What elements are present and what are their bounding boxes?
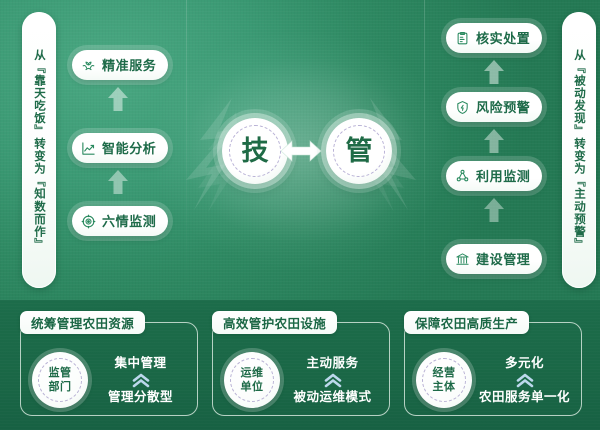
side-banner-left: 从『靠天吃饭』转变为『知数而作』 xyxy=(22,12,56,288)
bottom-card-circle-line2: 部门 xyxy=(49,381,72,393)
bottom-card-body: 运维 单位 主动服务 被动运维模式 xyxy=(213,343,391,417)
bottom-card-transition: 集中管理 管理分散型 xyxy=(88,356,199,405)
bottom-card-circle-line1: 监管 xyxy=(49,367,72,379)
arrow-up-icon xyxy=(483,128,505,154)
bottom-card-circle: 监管 部门 xyxy=(32,352,88,408)
arrow-up-icon xyxy=(107,169,129,195)
bottom-card-title: 统筹管理农田资源 xyxy=(20,311,145,334)
vertical-divider-right xyxy=(424,0,425,300)
bottom-card-circle: 运维 单位 xyxy=(224,352,280,408)
side-banner-right: 从『被动发现』转变为『主动预警』 xyxy=(562,12,596,288)
bottom-card-1: 统筹管理农田资源 监管 部门 集中管理 管理分散型 xyxy=(20,322,198,416)
pill-label: 风险预警 xyxy=(476,101,530,114)
bottom-card-dashed-ring: 运维 单位 xyxy=(230,358,274,402)
core-dashed-ring: 技 xyxy=(229,125,281,177)
bottom-card-dashed-ring: 监管 部门 xyxy=(38,358,82,402)
shield-alert-icon xyxy=(455,100,470,115)
bottom-card-circle: 经营 主体 xyxy=(416,352,472,408)
pill-construction-management[interactable]: 建设管理 xyxy=(446,244,542,274)
pill-precision-service[interactable]: 精准服务 xyxy=(72,50,168,80)
bottom-card-dashed-ring: 经营 主体 xyxy=(422,358,466,402)
side-banner-right-text: 从『被动发现』转变为『主动预警』 xyxy=(573,49,585,251)
pill-label: 六情监测 xyxy=(102,215,156,228)
bottom-card-title: 保障农田高质生产 xyxy=(404,311,529,334)
bottom-card-from-state: 被动运维模式 xyxy=(293,390,371,405)
bottom-card-circle-line2: 主体 xyxy=(433,381,456,393)
hands-plant-icon xyxy=(81,58,96,73)
double-chevron-up-icon xyxy=(131,373,151,388)
bidirectional-arrow-icon xyxy=(279,137,323,165)
bottom-card-circle-line2: 单位 xyxy=(241,381,264,393)
pill-smart-analysis[interactable]: 智能分析 xyxy=(72,133,168,163)
pill-risk-alert[interactable]: 风险预警 xyxy=(446,92,542,122)
bottom-card-to-state: 主动服务 xyxy=(306,356,358,371)
bottom-card-3: 保障农田高质生产 经营 主体 多元化 农田服务单一化 xyxy=(404,322,582,416)
bottom-card-2: 高效管护农田设施 运维 单位 主动服务 被动运维模式 xyxy=(212,322,390,416)
bottom-card-title: 高效管护农田设施 xyxy=(212,311,337,334)
pill-label: 核实处置 xyxy=(476,32,530,45)
pill-label: 精准服务 xyxy=(102,59,156,72)
double-chevron-up-icon xyxy=(323,373,343,388)
bottom-card-transition: 多元化 农田服务单一化 xyxy=(472,356,583,405)
pill-six-condition-monitoring[interactable]: 六情监测 xyxy=(72,206,168,236)
infographic-canvas: 从『靠天吃饭』转变为『知数而作』 从『被动发现』转变为『主动预警』 精准服务 xyxy=(0,0,600,430)
bank-building-icon xyxy=(455,252,470,267)
bottom-card-from-state: 管理分散型 xyxy=(108,390,173,405)
pill-utilization-monitoring[interactable]: 利用监测 xyxy=(446,161,542,191)
radar-target-icon xyxy=(81,214,96,229)
arrow-up-icon xyxy=(107,86,129,112)
pill-label: 建设管理 xyxy=(476,253,530,266)
core-character: 技 xyxy=(242,138,269,165)
line-chart-icon xyxy=(81,141,96,156)
bottom-card-to-state: 集中管理 xyxy=(114,356,166,371)
arrow-up-icon xyxy=(483,197,505,223)
pill-label: 利用监测 xyxy=(476,170,530,183)
side-banner-left-text: 从『靠天吃饭』转变为『知数而作』 xyxy=(33,49,45,251)
recycle-network-icon xyxy=(455,169,470,184)
arrow-up-icon xyxy=(483,59,505,85)
bottom-card-transition: 主动服务 被动运维模式 xyxy=(280,356,391,405)
bottom-card-from-state: 农田服务单一化 xyxy=(479,390,570,405)
pill-label: 智能分析 xyxy=(102,142,156,155)
bottom-card-circle-line1: 经营 xyxy=(433,367,456,379)
core-dashed-ring: 管 xyxy=(333,125,385,177)
bottom-card-body: 经营 主体 多元化 农田服务单一化 xyxy=(405,343,583,417)
bottom-card-to-state: 多元化 xyxy=(505,356,544,371)
clipboard-check-icon xyxy=(455,31,470,46)
core-character: 管 xyxy=(346,138,373,165)
bottom-card-circle-line1: 运维 xyxy=(241,367,264,379)
double-chevron-up-icon xyxy=(515,373,535,388)
vertical-divider-left xyxy=(186,0,187,300)
core-circle-management: 管 xyxy=(326,118,392,184)
pill-verification-disposal[interactable]: 核实处置 xyxy=(446,23,542,53)
bottom-card-body: 监管 部门 集中管理 管理分散型 xyxy=(21,343,199,417)
